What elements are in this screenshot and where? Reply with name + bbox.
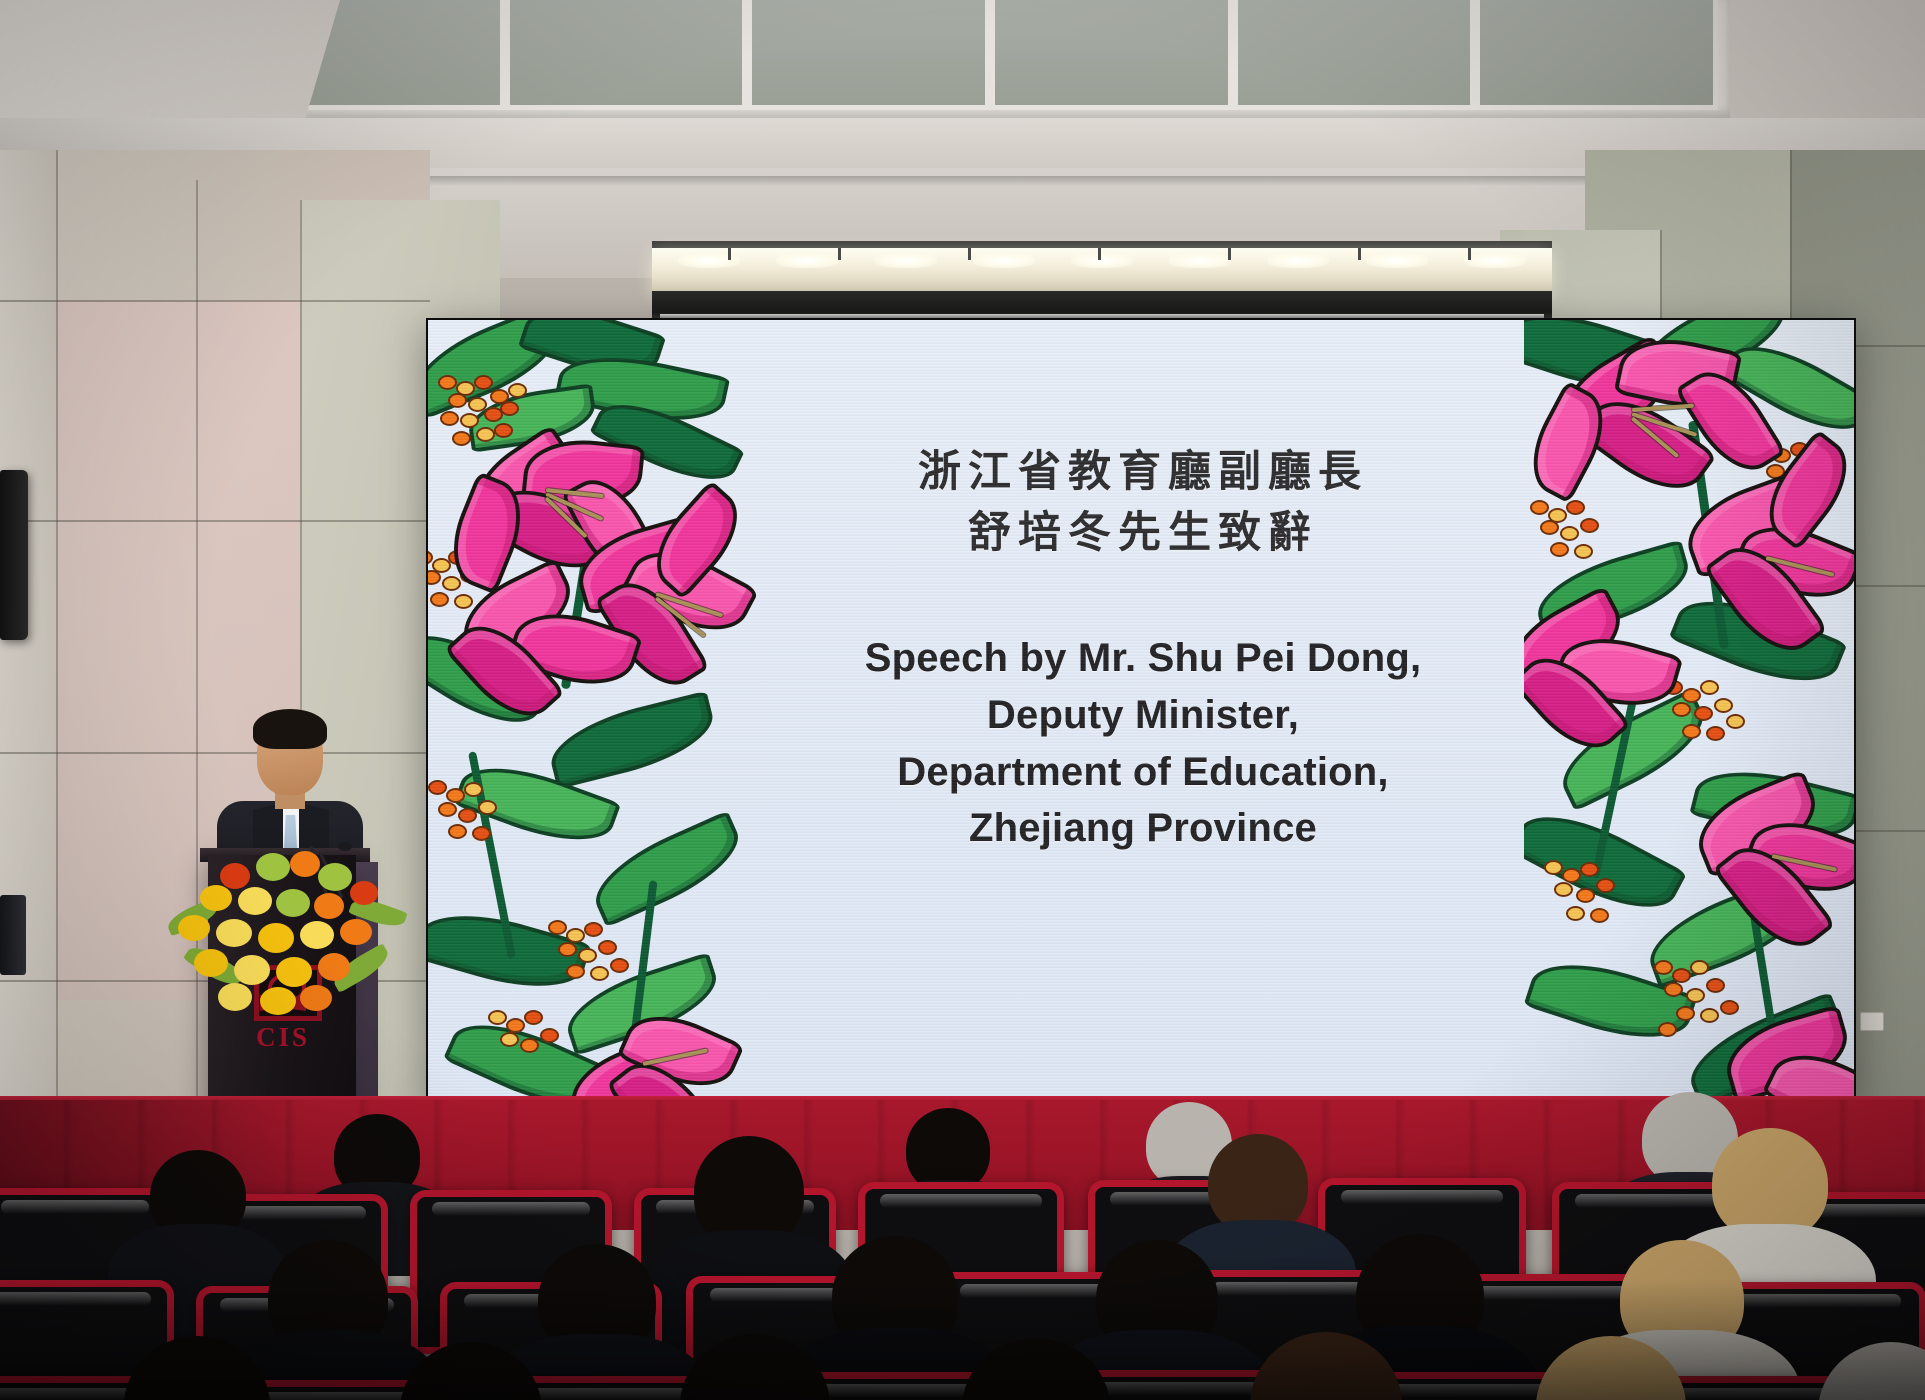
leaf-shape	[543, 691, 721, 790]
arrangement-bloom	[218, 983, 252, 1011]
speaker-hair	[253, 709, 327, 749]
wall-grout-line	[56, 150, 58, 1150]
audience-head	[1208, 1134, 1308, 1234]
wall-grout-line	[0, 520, 430, 522]
wall-grout-line	[0, 300, 430, 302]
podium-flower-arrangement	[160, 845, 410, 1015]
valance-divider	[1358, 248, 1361, 260]
slide-chinese-line-2: 舒培冬先生致辭	[758, 503, 1528, 564]
ceiling-panel	[1233, 0, 1476, 110]
valance-divider	[968, 248, 971, 260]
slide-english-line-2: Deputy Minister,	[758, 687, 1528, 744]
valance-divider	[728, 248, 731, 260]
arrangement-bloom	[314, 893, 344, 919]
arrangement-bloom	[256, 853, 290, 881]
arrangement-bloom	[178, 915, 210, 941]
foreground-shadow	[0, 1280, 1925, 1400]
arrangement-bloom	[350, 881, 378, 905]
podium-logo-text: CIS	[243, 1022, 323, 1053]
arrangement-bloom	[216, 919, 252, 947]
arrangement-bloom	[234, 955, 270, 985]
ceiling-panel	[1475, 0, 1718, 110]
arrangement-bloom	[318, 953, 350, 981]
soffit-shadow	[300, 176, 1640, 186]
ceiling-panel-grid	[262, 0, 1718, 110]
arrangement-bloom	[318, 863, 352, 891]
slide-english-line-3: Department of Education,	[758, 744, 1528, 801]
presentation-screen: 浙江省教育廳副廳長 舒培冬先生致辭 Speech by Mr. Shu Pei …	[428, 320, 1854, 1106]
arrangement-bloom	[258, 923, 294, 953]
slide-artwork-right	[1524, 320, 1854, 1106]
arrangement-bloom	[238, 887, 272, 915]
valance-lamp-icon	[1071, 253, 1133, 268]
slide-artwork-left	[428, 320, 758, 1106]
arrangement-bloom	[300, 921, 334, 949]
arrangement-bloom	[276, 957, 312, 987]
ceiling-panel	[505, 0, 748, 110]
valance-divider	[838, 248, 841, 260]
ceiling-panel	[990, 0, 1233, 110]
valance-lamp-icon	[973, 253, 1035, 268]
valance-lamp-icon	[1267, 253, 1329, 268]
valance-lamp-icon	[1366, 253, 1428, 268]
arrangement-bloom	[200, 885, 232, 911]
ceiling-panel	[747, 0, 990, 110]
arrangement-bloom	[220, 863, 250, 889]
slide-chinese-line-1: 浙江省教育廳副廳長	[758, 442, 1528, 503]
arrangement-bloom	[300, 985, 332, 1011]
arrangement-bloom	[290, 851, 320, 877]
arrangement-bloom	[340, 919, 372, 945]
valance-divider	[1098, 248, 1101, 260]
valance-divider	[1228, 248, 1231, 260]
conference-hall-photo: 浙江省教育廳副廳長 舒培冬先生致辭 Speech by Mr. Shu Pei …	[0, 0, 1925, 1400]
valance-divider	[1468, 248, 1471, 260]
arrangement-bloom	[276, 889, 310, 917]
slide-text-block: 浙江省教育廳副廳長 舒培冬先生致辭 Speech by Mr. Shu Pei …	[758, 442, 1528, 857]
wall-speaker-icon	[0, 470, 28, 640]
valance-lamp-icon	[875, 253, 937, 268]
wall-speaker-icon	[0, 895, 26, 975]
arrangement-bloom	[194, 949, 228, 977]
slide-english-block: Speech by Mr. Shu Pei Dong, Deputy Minis…	[758, 630, 1528, 857]
slide-english-line-4: Zhejiang Province	[758, 800, 1528, 857]
valance-lamp-icon	[776, 253, 838, 268]
wall-outlet-icon	[1860, 1012, 1884, 1031]
arrangement-bloom	[260, 987, 296, 1015]
slide-english-line-1: Speech by Mr. Shu Pei Dong,	[758, 630, 1528, 687]
valance-lamp-icon	[1169, 253, 1231, 268]
valance-lamp-icon	[1464, 253, 1526, 268]
valance-lamp-row	[660, 250, 1544, 270]
